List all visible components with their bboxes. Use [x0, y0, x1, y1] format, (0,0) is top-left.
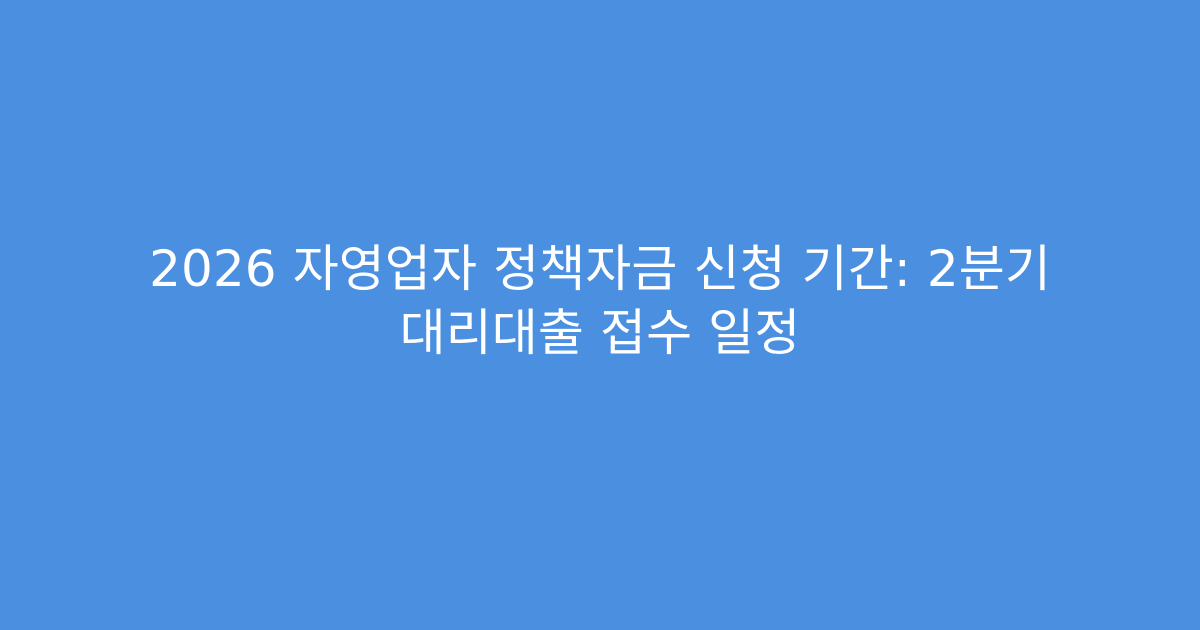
page-title-line-1: 2026 자영업자 정책자금 신청 기간: 2분기 [100, 237, 1100, 301]
page-title: 2026 자영업자 정책자금 신청 기간: 2분기 대리대출 접수 일정 [100, 237, 1100, 365]
page-title-line-2: 대리대출 접수 일정 [100, 301, 1100, 365]
title-block: 2026 자영업자 정책자금 신청 기간: 2분기 대리대출 접수 일정 [100, 237, 1100, 365]
og-image-card: 2026 자영업자 정책자금 신청 기간: 2분기 대리대출 접수 일정 [0, 0, 1200, 630]
